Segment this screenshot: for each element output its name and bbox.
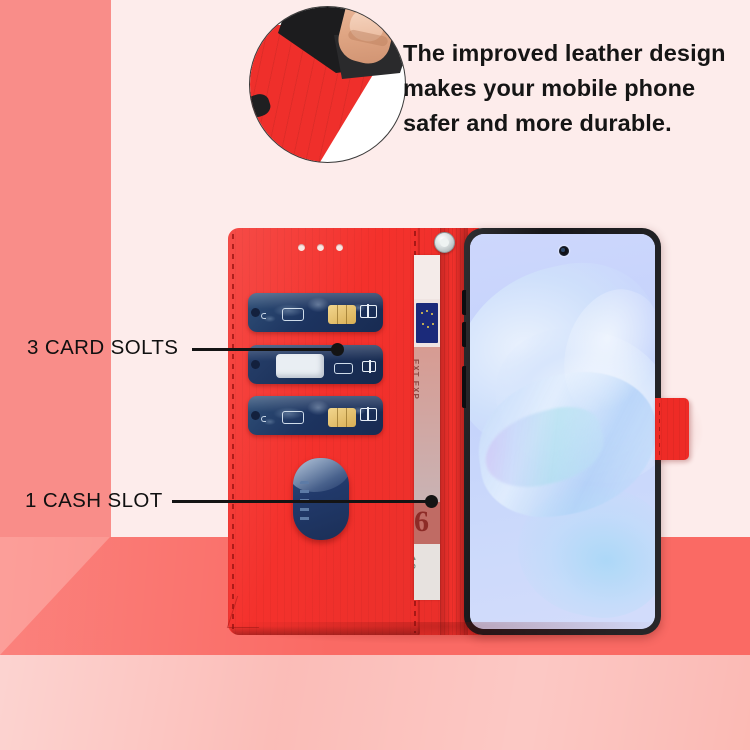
volume-down-button (462, 322, 466, 347)
banknote-value-bottom: 10 (414, 555, 418, 570)
power-button (462, 366, 466, 408)
headline-line-2: makes your mobile phone (403, 71, 738, 106)
wallet-dot-2 (317, 244, 324, 251)
headline-line-3: safer and more durable. (403, 106, 738, 141)
banknote-glyph: 6 (414, 505, 429, 539)
card-logo-icon (360, 408, 377, 421)
callout-dot-cash-slot (425, 495, 438, 508)
product-image-canvas: The improved leather design makes your m… (0, 0, 750, 750)
wallet-dot-3 (336, 244, 343, 251)
strap-stitching (659, 403, 660, 455)
banknote-value-top: 10 (414, 259, 417, 280)
phone-screen (470, 234, 655, 629)
callout-leader-cash-slot (172, 500, 432, 503)
phone-device (464, 228, 661, 635)
card-logo-icon (360, 305, 377, 318)
callout-dot-card-slots (331, 343, 344, 356)
card-band (334, 363, 353, 374)
table-front-sheen (0, 655, 750, 750)
wallet-top-dots (298, 244, 398, 254)
leather-flex-detail-inset (249, 6, 406, 163)
card-white-area (276, 354, 324, 378)
card-logo-icon (362, 361, 376, 372)
banknote-eu-flag (416, 303, 438, 343)
banknote: 10 EXT EXP 6 10 (414, 255, 441, 600)
card-mark (261, 313, 266, 319)
cash-pocket-stitching (300, 481, 309, 525)
banknote-bottom-segment (414, 544, 441, 600)
callout-leader-card-slots (192, 348, 338, 351)
magnetic-snap-button (434, 232, 455, 253)
headline-text: The improved leather design makes your m… (403, 36, 738, 141)
banknote-center-text: EXT EXP (414, 359, 420, 400)
wallet-dot-1 (298, 244, 305, 251)
card-edge-dot (251, 360, 260, 369)
card-edge-dot (251, 308, 260, 317)
card-chip-icon (328, 408, 356, 427)
card-edge-dot (251, 411, 260, 420)
card-band (282, 411, 304, 424)
headline-line-1: The improved leather design (403, 36, 738, 71)
cash-slot-pocket (293, 458, 349, 540)
callout-label-card-slots: 3 CARD SOLTS (27, 336, 178, 360)
front-camera-icon (559, 246, 569, 256)
magnetic-closure-strap (655, 398, 689, 460)
background-left-strip (0, 0, 111, 540)
volume-up-button (462, 290, 466, 315)
card-chip-icon (328, 305, 356, 324)
card-band (282, 308, 304, 321)
card-slot-1 (248, 293, 383, 332)
banknote-top-segment (414, 255, 441, 299)
card-slot-3 (248, 396, 383, 435)
stitching-left (232, 234, 234, 629)
card-mark (261, 416, 266, 422)
product-drop-shadow (226, 622, 666, 644)
callout-label-cash-slot: 1 CASH SLOT (25, 489, 163, 513)
